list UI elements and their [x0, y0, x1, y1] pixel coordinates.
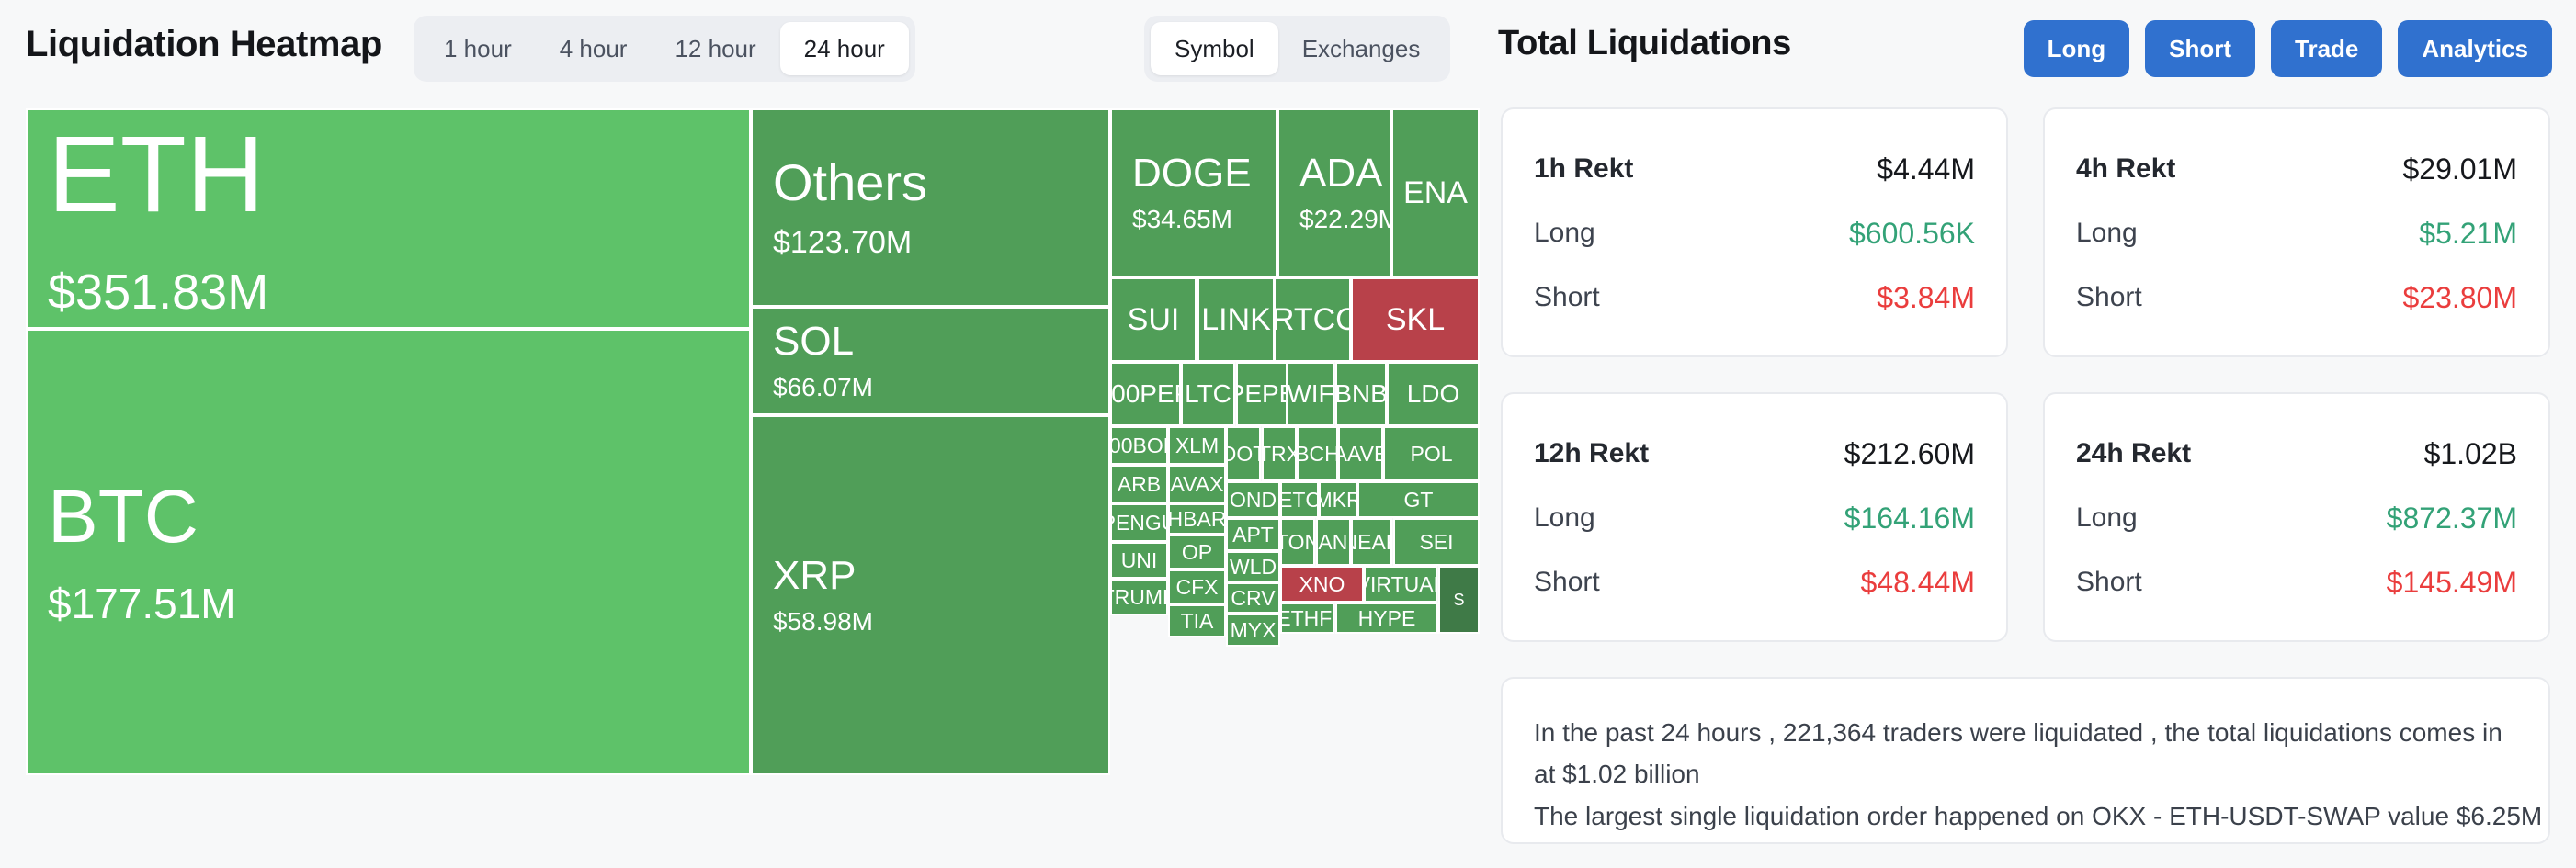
stat-period-label: 4h Rekt: [2076, 153, 2175, 185]
tile-symbol: LTC: [1185, 381, 1231, 407]
stat-header-row: 4h Rekt $29.01M: [2076, 137, 2517, 201]
tile-symbol: SEI: [1419, 532, 1453, 553]
treemap-tile-1000pepe[interactable]: 1000PEPE: [1110, 362, 1181, 426]
analytics-button[interactable]: Analytics: [2398, 20, 2552, 77]
tile-symbol: XNO: [1299, 574, 1345, 595]
tile-symbol: 1000BONK: [1110, 435, 1168, 457]
tile-symbol: ENA: [1403, 177, 1468, 209]
tile-symbol: XRP: [773, 556, 1108, 596]
stat-short-row: Short $145.49M: [2076, 550, 2517, 614]
stat-long-value: $5.21M: [2419, 217, 2517, 251]
summary-line-1: In the past 24 hours , 221,364 traders w…: [1534, 712, 2517, 753]
tile-value: $66.07M: [773, 375, 1108, 400]
page-header: Liquidation Heatmap 1 hour 4 hour 12 hou…: [0, 0, 2576, 103]
stat-long-value: $164.16M: [1844, 502, 1975, 535]
tile-symbol: CFX: [1176, 577, 1219, 598]
short-button[interactable]: Short: [2145, 20, 2255, 77]
tile-symbol: BCH: [1297, 444, 1338, 465]
stat-header-row: 12h Rekt $212.60M: [1534, 422, 1975, 486]
treemap-tile-etc[interactable]: ETC: [1280, 481, 1319, 518]
treemap-tile-eth[interactable]: ETH$351.83M: [26, 108, 751, 329]
treemap-tile-virtual[interactable]: VIRTUAL: [1364, 566, 1437, 603]
stat-header-row: 24h Rekt $1.02B: [2076, 422, 2517, 486]
treemap-tile-sand[interactable]: SAND: [1316, 518, 1351, 566]
tile-symbol: ARB: [1118, 474, 1161, 495]
treemap-tile-arb[interactable]: ARB: [1110, 465, 1168, 503]
treemap-tile-aave[interactable]: AAVE: [1338, 426, 1383, 481]
treemap-tile-crv[interactable]: CRV: [1226, 582, 1280, 614]
treemap-tile-wif[interactable]: WIF: [1287, 362, 1334, 426]
stat-short-value: $48.44M: [1860, 566, 1975, 600]
treemap-tile-sui[interactable]: SUI: [1110, 277, 1197, 362]
timeframe-option-4h[interactable]: 4 hour: [536, 22, 652, 75]
stat-long-label: Long: [1534, 502, 1595, 534]
stat-long-row: Long $600.56K: [1534, 201, 1975, 265]
tile-symbol: ETH: [48, 120, 749, 229]
stat-long-label: Long: [2076, 502, 2138, 534]
stat-short-row: Short $3.84M: [1534, 265, 1975, 330]
stat-header-row: 1h Rekt $4.44M: [1534, 137, 1975, 201]
treemap-tile-apt[interactable]: APT: [1226, 518, 1280, 551]
stat-long-label: Long: [1534, 218, 1595, 249]
stat-short-label: Short: [1534, 282, 1600, 313]
tile-value: $123.70M: [773, 227, 1108, 258]
stat-long-label: Long: [2076, 218, 2138, 249]
tile-symbol: HBAR: [1168, 509, 1226, 530]
tile-symbol: VIRTUAL: [1364, 574, 1437, 595]
stat-short-value: $3.84M: [1877, 281, 1975, 315]
tile-symbol: LDO: [1407, 381, 1460, 407]
tile-symbol: AVAX: [1171, 474, 1224, 495]
treemap-tile-ltc[interactable]: LTC: [1181, 362, 1235, 426]
stats-panel: 1h Rekt $4.44M Long $600.56K Short $3.84…: [1501, 107, 2550, 842]
stat-period-label: 24h Rekt: [2076, 438, 2191, 469]
stat-long-value: $600.56K: [1849, 217, 1975, 251]
page-title: Liquidation Heatmap: [26, 24, 382, 65]
tile-symbol: PEPE: [1236, 381, 1288, 407]
timeframe-option-12h[interactable]: 12 hour: [651, 22, 779, 75]
treemap-tile-ena[interactable]: ENA: [1391, 108, 1480, 277]
tile-symbol: WLD: [1230, 557, 1277, 578]
liquidation-treemap-render[interactable]: ETH$351.83MBTC$177.51MOthers$123.70MSOL$…: [26, 108, 1480, 775]
tile-symbol: TRUMP: [1110, 587, 1168, 608]
summary-line-2: at $1.02 billion: [1534, 753, 2517, 795]
stat-total-value: $29.01M: [2402, 152, 2517, 186]
treemap-tile-sei[interactable]: SEI: [1393, 518, 1480, 566]
tile-symbol: SUI: [1128, 304, 1180, 335]
mode-option-symbol[interactable]: Symbol: [1151, 22, 1278, 75]
tile-value: $22.29M: [1299, 207, 1390, 232]
stat-total-value: $212.60M: [1844, 437, 1975, 471]
tile-symbol: POL: [1410, 444, 1452, 465]
timeframe-option-24h[interactable]: 24 hour: [780, 22, 909, 75]
treemap-tile-btc[interactable]: BTC$177.51M: [26, 329, 751, 775]
tile-symbol: CRV: [1231, 588, 1275, 609]
tile-symbol: ETC: [1280, 490, 1319, 511]
treemap-tile-tia[interactable]: TIA: [1168, 604, 1226, 637]
summary-card: In the past 24 hours , 221,364 traders w…: [1501, 677, 2550, 844]
treemap-tile-doge[interactable]: DOGE$34.65M: [1110, 108, 1277, 277]
grouping-mode-selector[interactable]: Symbol Exchanges: [1144, 16, 1450, 82]
treemap-tile-others[interactable]: Others$123.70M: [751, 108, 1110, 307]
stat-long-row: Long $5.21M: [2076, 201, 2517, 265]
treemap-tile-trx[interactable]: TRX: [1262, 426, 1297, 481]
stat-long-value: $872.37M: [2387, 502, 2517, 535]
tile-value: $34.65M: [1132, 207, 1276, 232]
tile-symbol: DOGE: [1132, 153, 1276, 194]
treemap-tile-fartcoin[interactable]: FARTCOIN: [1274, 277, 1351, 362]
treemap-tile-wld[interactable]: WLD: [1226, 551, 1280, 582]
tile-symbol: ETHFI: [1280, 608, 1334, 629]
treemap-tile-pepe[interactable]: PEPE: [1236, 362, 1288, 426]
stat-short-label: Short: [1534, 567, 1600, 598]
stat-total-value: $1.02B: [2424, 437, 2517, 471]
tile-symbol: PENGU: [1110, 513, 1168, 534]
tile-symbol: Others: [773, 157, 1108, 209]
stat-card-24h: 24h Rekt $1.02B Long $872.37M Short $145…: [2043, 392, 2550, 642]
tile-symbol: BNB: [1335, 381, 1387, 407]
stat-period-label: 1h Rekt: [1534, 153, 1633, 185]
treemap-tile-pengu[interactable]: PENGU: [1110, 503, 1168, 542]
treemap-tile-mkr[interactable]: MKR: [1319, 481, 1357, 518]
timeframe-option-1h[interactable]: 1 hour: [420, 22, 536, 75]
treemap-tile-dot[interactable]: DOT: [1226, 426, 1261, 481]
tile-value: $177.51M: [48, 582, 749, 625]
tile-symbol: WIF: [1287, 381, 1333, 407]
treemap-tile-ldo[interactable]: LDO: [1387, 362, 1480, 426]
treemap-tile-hbar[interactable]: HBAR: [1168, 503, 1226, 535]
timeframe-selector[interactable]: 1 hour 4 hour 12 hour 24 hour: [414, 16, 915, 82]
tile-symbol: BTC: [48, 479, 749, 555]
treemap-tile-xlm[interactable]: XLM: [1168, 426, 1226, 465]
treemap-tile-1000bonk[interactable]: 1000BONK: [1110, 426, 1168, 465]
treemap-tile-myx[interactable]: MYX: [1226, 614, 1280, 647]
tile-symbol: TRX: [1262, 444, 1297, 465]
stat-total-value: $4.44M: [1877, 152, 1975, 186]
treemap-tile-bnb[interactable]: BNB: [1335, 362, 1387, 426]
stat-short-value: $145.49M: [2387, 566, 2517, 600]
treemap-tile-skl[interactable]: SKL: [1351, 277, 1480, 362]
treemap-tile-link[interactable]: LINK: [1197, 277, 1275, 362]
trade-button[interactable]: Trade: [2271, 20, 2382, 77]
tile-symbol: APT: [1232, 524, 1274, 546]
tile-symbol: XLM: [1175, 435, 1219, 457]
stat-card-1h: 1h Rekt $4.44M Long $600.56K Short $3.84…: [1501, 107, 2008, 357]
tile-symbol: TON: [1280, 532, 1315, 553]
tile-symbol: OP: [1182, 542, 1212, 563]
stat-long-row: Long $164.16M: [1534, 486, 1975, 550]
stat-period-label: 12h Rekt: [1534, 438, 1649, 469]
tile-symbol: MYX: [1231, 620, 1277, 641]
tile-symbol: DOT: [1226, 444, 1261, 465]
tile-symbol: SAND: [1316, 532, 1351, 553]
treemap-tile-sol[interactable]: SOL$66.07M: [751, 307, 1110, 415]
tile-symbol: UNI: [1121, 550, 1158, 571]
treemap-tile-ton[interactable]: TON: [1280, 518, 1315, 566]
stat-short-label: Short: [2076, 282, 2142, 313]
treemap-tile-hype[interactable]: HYPE: [1335, 603, 1438, 634]
stat-card-12h: 12h Rekt $212.60M Long $164.16M Short $4…: [1501, 392, 2008, 642]
tile-symbol: SOL: [773, 321, 1108, 362]
treemap-tile-ethfi[interactable]: ETHFI: [1280, 603, 1334, 634]
tile-symbol: SKL: [1386, 304, 1445, 335]
tile-symbol: AAVE: [1338, 444, 1383, 465]
tile-symbol: FARTCOIN: [1274, 304, 1351, 335]
treemap-tile-pol[interactable]: POL: [1383, 426, 1480, 481]
tile-symbol: 1000PEPE: [1110, 381, 1181, 407]
stat-short-row: Short $48.44M: [1534, 550, 1975, 614]
tile-symbol: NEAR: [1351, 532, 1392, 553]
stat-short-row: Short $23.80M: [2076, 265, 2517, 330]
stat-card-4h: 4h Rekt $29.01M Long $5.21M Short $23.80…: [2043, 107, 2550, 357]
stat-short-label: Short: [2076, 567, 2142, 598]
action-button-bar: Long Short Trade Analytics: [2024, 20, 2552, 77]
tile-value: $351.83M: [48, 267, 749, 317]
treemap-tile-bch[interactable]: BCH: [1297, 426, 1338, 481]
tile-symbol: GT: [1404, 490, 1434, 511]
treemap-tile-xno[interactable]: XNO: [1280, 566, 1364, 603]
stat-short-value: $23.80M: [2402, 281, 2517, 315]
treemap-tile-op[interactable]: OP: [1168, 535, 1226, 569]
treemap-tile-ond[interactable]: OND: [1226, 481, 1280, 518]
treemap-tile-trump[interactable]: TRUMP: [1110, 579, 1168, 615]
tile-symbol: LINK: [1201, 304, 1271, 335]
treemap-tile-avax[interactable]: AVAX: [1168, 465, 1226, 503]
stat-long-row: Long $872.37M: [2076, 486, 2517, 550]
treemap-tile-s[interactable]: S: [1438, 566, 1480, 634]
tile-symbol: MKR: [1319, 490, 1357, 511]
treemap-tile-ada[interactable]: ADA$22.29M: [1277, 108, 1391, 277]
long-button[interactable]: Long: [2024, 20, 2130, 77]
total-liquidations-title: Total Liquidations: [1498, 24, 1791, 63]
tile-symbol: S: [1453, 592, 1464, 608]
treemap-tile-uni[interactable]: UNI: [1110, 542, 1168, 579]
treemap-tile-cfx[interactable]: CFX: [1168, 569, 1226, 604]
tile-symbol: ADA: [1299, 153, 1390, 194]
treemap-tile-xrp[interactable]: XRP$58.98M: [751, 415, 1110, 775]
tile-symbol: HYPE: [1358, 608, 1416, 629]
tile-symbol: OND: [1230, 490, 1277, 511]
treemap-tile-near[interactable]: NEAR: [1351, 518, 1392, 566]
tile-symbol: TIA: [1181, 611, 1214, 632]
summary-line-3: The largest single liquidation order hap…: [1534, 795, 2517, 837]
treemap-tile-gt[interactable]: GT: [1357, 481, 1480, 518]
tile-value: $58.98M: [773, 609, 1108, 635]
mode-option-exchanges[interactable]: Exchanges: [1278, 22, 1445, 75]
